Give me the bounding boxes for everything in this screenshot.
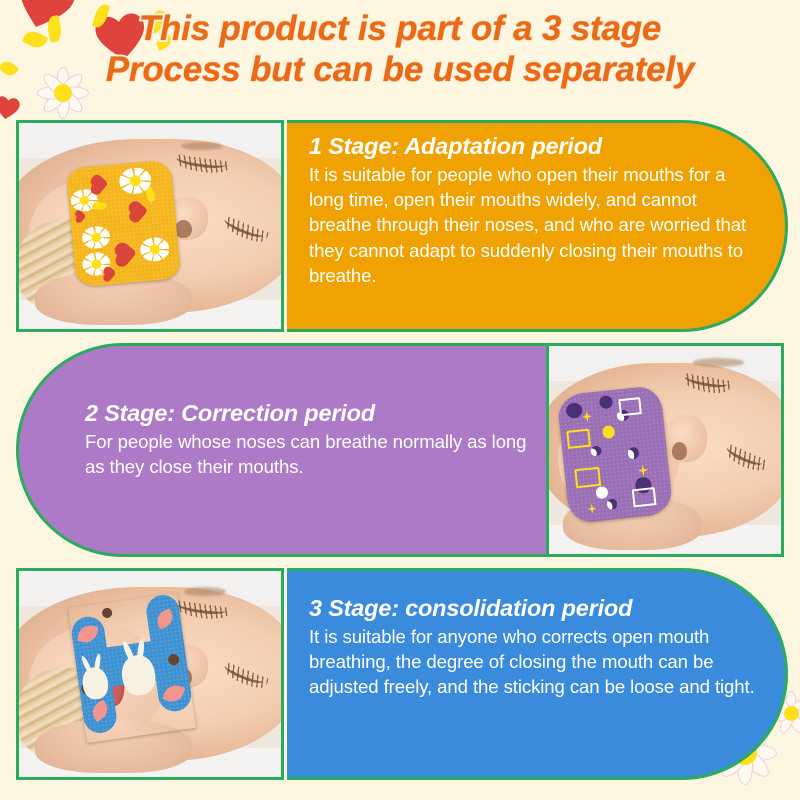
- product-infographic-poster: This product is part of a 3 stage Proces…: [0, 0, 800, 800]
- stage-3-panel: 3 Stage: consolidation period It is suit…: [287, 568, 788, 780]
- petal-icon: [46, 87, 60, 110]
- page-title-line-1: This product is part of a 3 stage: [0, 8, 800, 49]
- bunny-icon: [116, 643, 160, 699]
- bunny-icon: [77, 658, 111, 702]
- stage-2-panel: 2 Stage: Correction period For people wh…: [16, 343, 550, 557]
- stage-1-body: It is suitable for people who open their…: [309, 162, 759, 288]
- heart-icon: [0, 94, 22, 122]
- stage-1-panel: 1 Stage: Adaptation period It is suitabl…: [287, 120, 788, 332]
- stage-2-title: 2 Stage: Correction period: [85, 398, 530, 429]
- page-title-line-2: Process but can be used separately: [0, 49, 800, 90]
- mouth-tape-purple-night: [556, 385, 673, 524]
- page-title: This product is part of a 3 stage Proces…: [0, 8, 800, 90]
- stage-3-title: 3 Stage: consolidation period: [309, 593, 759, 624]
- mouth-tape-yellow-daisy: [66, 160, 181, 288]
- stage-row-1: 1 Stage: Adaptation period It is suitabl…: [16, 120, 784, 332]
- stage-3-body: It is suitable for anyone who corrects o…: [309, 624, 759, 700]
- stage-1-title: 1 Stage: Adaptation period: [309, 131, 759, 162]
- stage-2-photo: [546, 343, 784, 557]
- mouth-tape-blue-bunny: [68, 593, 196, 743]
- stage-3-photo: [16, 568, 284, 780]
- stage-row-2: 2 Stage: Correction period For people wh…: [16, 343, 784, 557]
- stage-2-body: For people whose noses can breathe norma…: [85, 429, 530, 479]
- stage-row-3: 3 Stage: consolidation period It is suit…: [16, 568, 784, 780]
- stage-1-photo: [16, 120, 284, 332]
